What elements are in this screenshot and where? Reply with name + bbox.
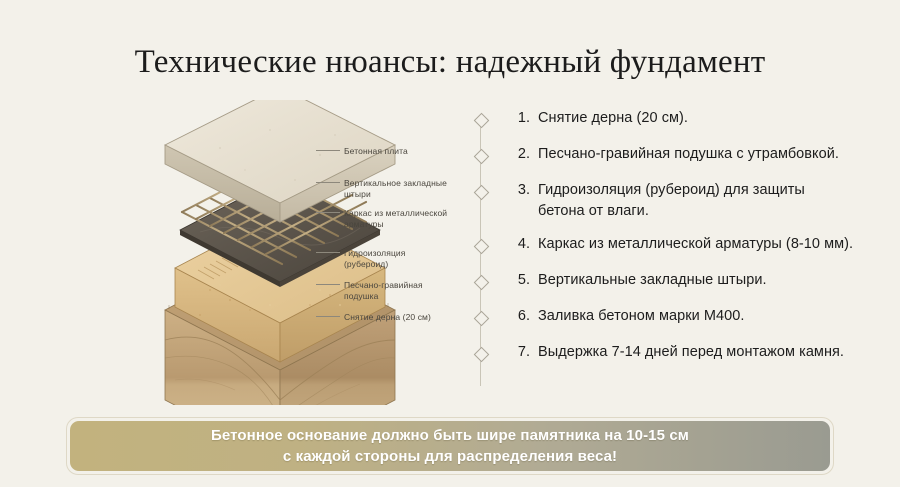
step-text: Каркас из металлической арматуры (8-10 м… <box>538 234 853 255</box>
callout-line-1: Бетонное основание должно быть шире памя… <box>211 425 689 446</box>
step-number: 3. <box>496 180 538 201</box>
list-item: 1. Снятие дерна (20 см). <box>470 108 870 132</box>
diagram-label-concrete-slab: Бетонная плита <box>344 146 408 157</box>
steps-list: 1. Снятие дерна (20 см). 2. Песчано-грав… <box>470 108 870 378</box>
diamond-marker-icon <box>474 149 487 162</box>
leader-line <box>316 284 340 285</box>
leader-line <box>316 252 340 253</box>
callout-line-2: с каждой стороны для распределения веса! <box>283 446 617 467</box>
diagram-label-rebar-frame: Каркас из металлической арматуры <box>344 208 448 230</box>
diamond-marker-icon <box>474 275 487 288</box>
list-item: 2. Песчано-гравийная подушка с утрамбовк… <box>470 144 870 168</box>
step-number: 6. <box>496 306 538 327</box>
diagram-labels: Бетонная плита Вертикальное закладные шт… <box>308 100 448 400</box>
step-text: Вертикальные закладные штыри. <box>538 270 767 291</box>
step-number: 1. <box>496 108 538 129</box>
diagram-label-sod-removal: Снятие дерна (20 см) <box>344 312 431 323</box>
step-number: 2. <box>496 144 538 165</box>
list-item: 5. Вертикальные закладные штыри. <box>470 270 870 294</box>
diagram-label-vertical-pins: Вертикальное закладные штыри <box>344 178 448 200</box>
diamond-marker-icon <box>474 347 487 360</box>
callout-banner-inner: Бетонное основание должно быть шире памя… <box>70 421 830 471</box>
step-text: Гидроизоляция (рубероид) для защиты бето… <box>538 180 838 222</box>
diamond-marker-icon <box>474 113 487 126</box>
step-text: Заливка бетоном марки М400. <box>538 306 744 327</box>
callout-banner: Бетонное основание должно быть шире памя… <box>66 417 834 475</box>
diamond-marker-icon <box>474 311 487 324</box>
list-item: 3. Гидроизоляция (рубероид) для защиты б… <box>470 180 870 222</box>
leader-line <box>316 150 340 151</box>
diamond-marker-icon <box>474 185 487 198</box>
step-number: 4. <box>496 234 538 255</box>
leader-line <box>316 316 340 317</box>
diagram-label-waterproofing: Гидроизоляция (рубероид) <box>344 248 448 270</box>
leader-line <box>316 182 340 183</box>
leader-line <box>316 212 340 213</box>
step-number: 7. <box>496 342 538 363</box>
page-title: Технические нюансы: надежный фундамент <box>0 44 900 81</box>
diagram-label-sand-gravel: Песчано-гравийная подушка <box>344 280 448 302</box>
step-text: Снятие дерна (20 см). <box>538 108 688 129</box>
step-text: Выдержка 7-14 дней перед монтажом камня. <box>538 342 844 363</box>
step-number: 5. <box>496 270 538 291</box>
diamond-marker-icon <box>474 239 487 252</box>
list-item: 6. Заливка бетоном марки М400. <box>470 306 870 330</box>
list-item: 7. Выдержка 7-14 дней перед монтажом кам… <box>470 342 870 366</box>
list-item: 4. Каркас из металлической арматуры (8-1… <box>470 234 870 258</box>
step-text: Песчано-гравийная подушка с утрамбовкой. <box>538 144 839 165</box>
slide-root: Технические нюансы: надежный фундамент <box>0 0 900 487</box>
